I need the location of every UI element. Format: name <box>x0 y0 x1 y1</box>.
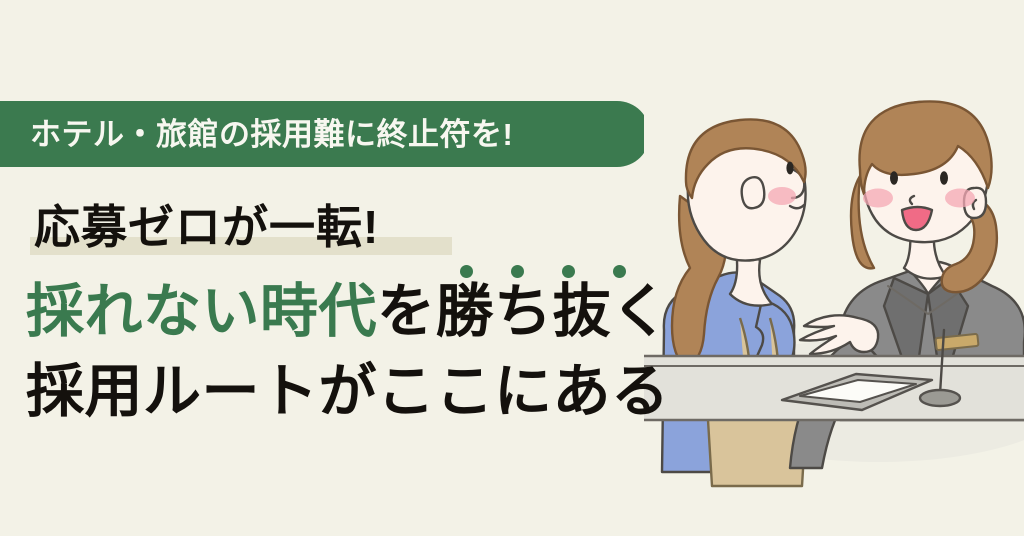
emphasis-dot <box>562 265 575 278</box>
staff-blush-right <box>945 189 975 208</box>
emphasis-dot <box>613 265 626 278</box>
staff-eye-left <box>890 171 898 185</box>
emphasis-dot <box>460 265 473 278</box>
headline-line-3: 採用ルートがここにある <box>26 363 670 421</box>
promo-banner: ホテル・旅館の採用難に終止符を! 応募ゼロが一転! 採れない時代を勝ち抜く 採用… <box>0 0 1024 536</box>
emphasis-dots <box>460 265 626 278</box>
guest-ear <box>742 177 765 208</box>
staff-blush-left <box>863 189 893 208</box>
guest-eye <box>786 162 793 175</box>
banner-tagline-pill: ホテル・旅館の採用難に終止符を! <box>0 101 650 167</box>
headline-line-2-rest: を勝ち抜く <box>377 279 670 344</box>
guest-blush <box>768 187 796 205</box>
emphasis-dot <box>511 265 524 278</box>
headline-line-2: 採れない時代を勝ち抜く <box>26 283 670 341</box>
hotel-reception-illustration: .ln { fill:none; stroke:#4D4A46; stroke-… <box>644 0 1024 536</box>
headline-line-1: 応募ゼロが一転! <box>34 204 379 250</box>
headline-line-2-accent: 採れない時代 <box>26 279 377 344</box>
staff-eye-right <box>940 171 948 185</box>
banner-tagline-text: ホテル・旅館の採用難に終止符を! <box>30 119 513 150</box>
